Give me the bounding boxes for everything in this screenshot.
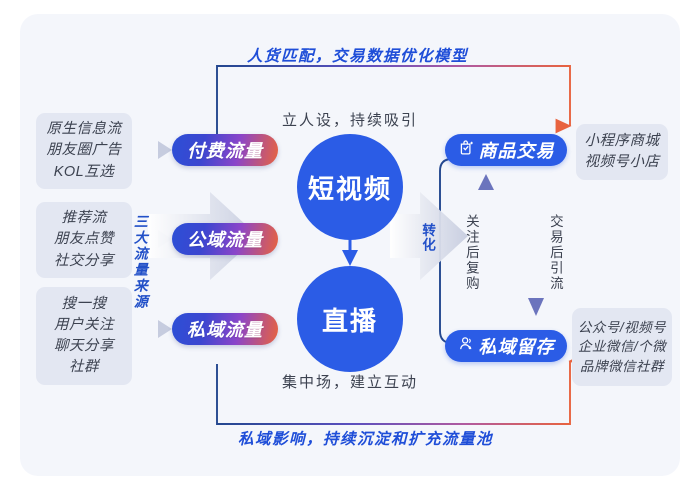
- pill-label: 付费流量: [187, 137, 263, 163]
- source-line: 搜一搜: [62, 294, 107, 315]
- user-group-icon: [458, 335, 475, 357]
- source-line: 推荐流: [62, 208, 107, 229]
- pill-label: 私域留存: [479, 333, 555, 359]
- label-repurchase-after-follow: 关注后复购: [463, 194, 478, 312]
- bottom-loop-label: 私域影响，持续沉淀和扩充流量池: [238, 427, 493, 449]
- outcome-box-retention-channels[interactable]: 公众号/视频号 企业微信/个微 品牌微信社群: [572, 308, 672, 386]
- center-top-caption: 立人设，持续吸引: [282, 109, 418, 130]
- circle-short-video[interactable]: 短视频: [297, 134, 403, 240]
- circle-label: 短视频: [308, 169, 392, 206]
- shopping-bag-icon: [458, 139, 475, 161]
- pill-retention[interactable]: 私域留存: [445, 330, 567, 362]
- outcome-line: 企业微信/个微: [578, 337, 666, 357]
- source-line: 朋友点赞: [54, 229, 114, 250]
- top-loop-label: 人货匹配，交易数据优化模型: [247, 44, 468, 66]
- source-line: 用户关注: [54, 315, 114, 336]
- source-line: 社交分享: [54, 251, 114, 272]
- outcome-line: 公众号/视频号: [578, 318, 666, 338]
- label-traffic-after-trade: 交易后引流: [547, 194, 562, 312]
- outcome-line: 小程序商城: [585, 131, 660, 152]
- outcome-line: 品牌微信社群: [580, 357, 664, 377]
- outcome-line: 视频号小店: [585, 152, 660, 173]
- traffic-sources-label: 三大流量来源: [133, 192, 148, 332]
- pill-commerce[interactable]: 商品交易: [445, 134, 567, 166]
- circle-label: 直播: [322, 301, 378, 338]
- diagram-canvas: 人货匹配，交易数据优化模型 私域影响，持续沉淀和扩充流量池 原生信息流 朋友圈广…: [20, 14, 680, 476]
- pill-private-traffic[interactable]: 私域流量: [172, 313, 278, 345]
- circle-livestream[interactable]: 直播: [297, 266, 403, 372]
- source-line: 朋友圈广告: [47, 140, 122, 161]
- source-box-public[interactable]: 推荐流 朋友点赞 社交分享: [36, 202, 132, 278]
- source-line: 社群: [69, 357, 99, 378]
- source-line: 原生信息流: [47, 119, 122, 140]
- conversion-label: 转化: [420, 223, 434, 269]
- pill-label: 公域流量: [187, 226, 263, 252]
- source-box-paid[interactable]: 原生信息流 朋友圈广告 KOL互选: [36, 113, 132, 189]
- source-line: KOL互选: [54, 162, 115, 183]
- pill-label: 私域流量: [187, 316, 263, 342]
- center-bottom-caption: 集中场，建立互动: [282, 371, 418, 392]
- source-line: 聊天分享: [54, 336, 114, 357]
- pill-label: 商品交易: [479, 137, 555, 163]
- source-box-private[interactable]: 搜一搜 用户关注 聊天分享 社群: [36, 287, 132, 385]
- outcome-box-commerce-channels[interactable]: 小程序商城 视频号小店: [576, 124, 668, 180]
- pill-public-traffic[interactable]: 公域流量: [172, 223, 278, 255]
- pill-paid-traffic[interactable]: 付费流量: [172, 134, 278, 166]
